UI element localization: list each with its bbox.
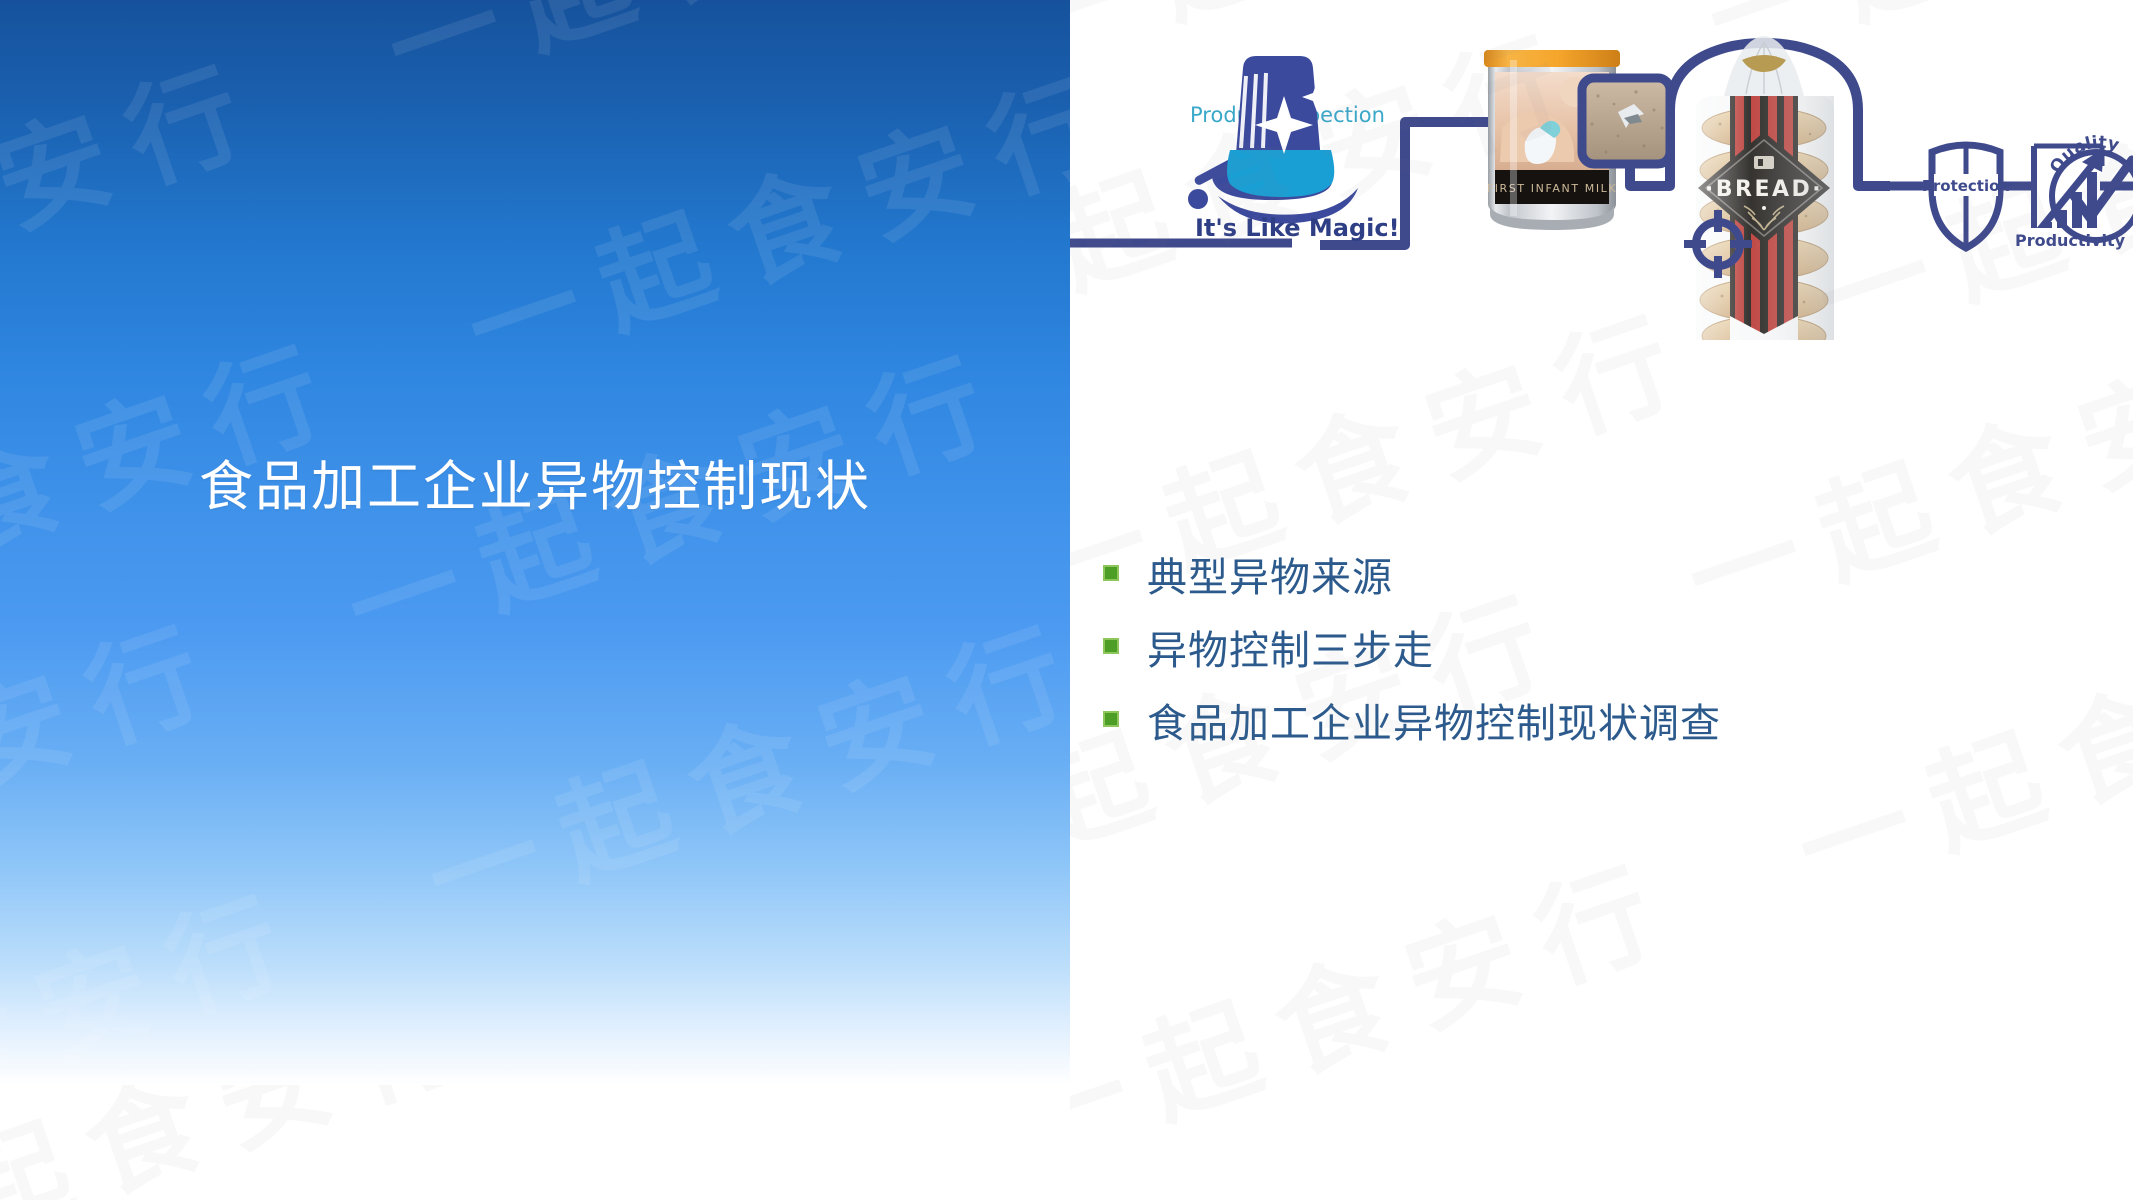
list-item-label: 典型异物来源 [1147,552,1393,604]
list-item-label: 食品加工企业异物控制现状调查 [1147,698,1721,750]
list-item[interactable]: 异物控制三步走 [1103,625,2103,677]
protection-shield-icon: Protection [1922,145,2010,250]
magic-hat-icon [1212,56,1334,200]
agenda-list: 典型异物来源 异物控制三步走 食品加工企业异物控制现状调查 [1103,552,2103,771]
protection-label: Protection [1922,177,2010,195]
list-item[interactable]: 食品加工企业异物控制现状调查 [1103,698,2103,750]
green-square-bullet-icon [1103,711,1119,727]
list-item[interactable]: 典型异物来源 [1103,552,2103,604]
slide-canvas: 一起食安行 一起食安行 一起食安行 一起食安行 一起食安行 一起食安行 一起食安… [0,0,2133,1200]
product-inspection-graphic: Product Inspection [1070,0,2133,340]
bread-bag-image: ·BREAD· [1696,36,1834,340]
green-square-bullet-icon [1103,638,1119,654]
left-blue-panel [0,0,1070,1085]
page-title: 食品加工企业异物控制现状 [0,455,1070,519]
logo-bottom-text: It's Like Magic! [1195,214,1400,242]
foreign-matter-callout [1582,78,1670,164]
can-label-text: FIRST INFANT MILK [1487,182,1617,195]
list-item-label: 异物控制三步走 [1147,625,1434,677]
green-square-bullet-icon [1103,565,1119,581]
product-inspection-logo: Product Inspection [1188,56,1400,242]
